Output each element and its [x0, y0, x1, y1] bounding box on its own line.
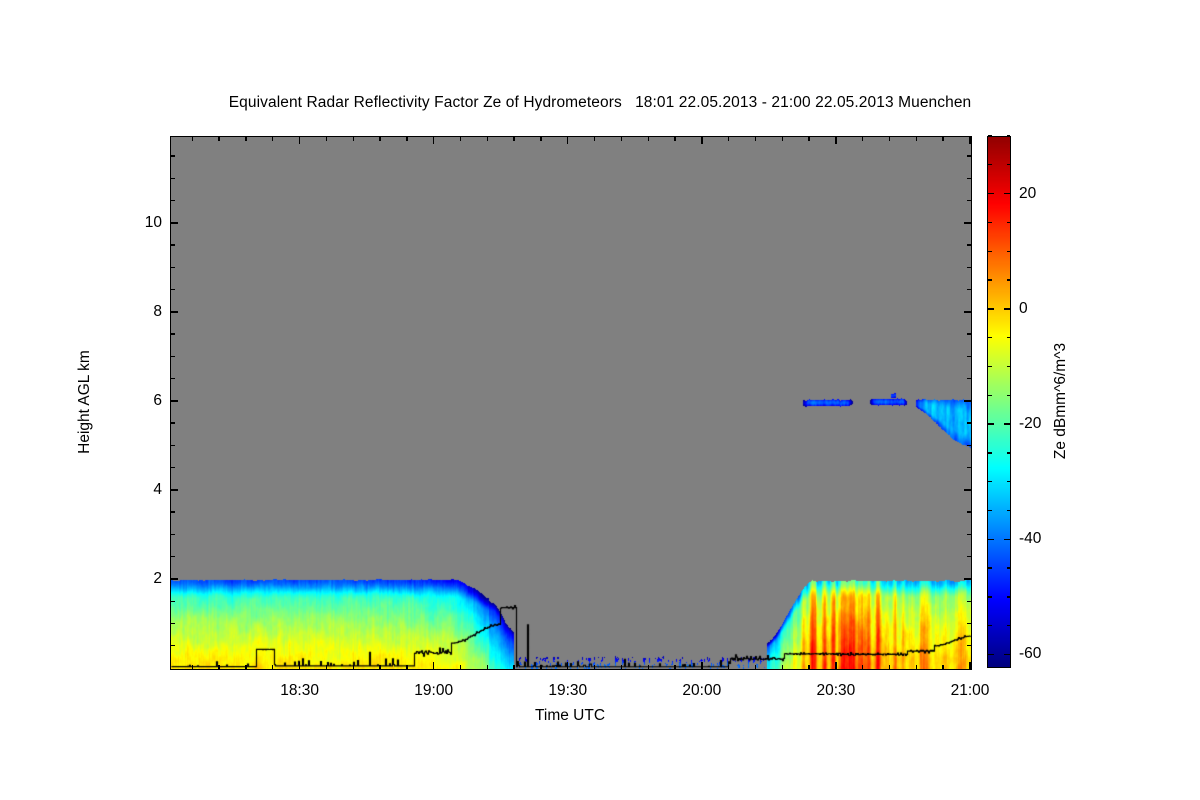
colorbar-tick-label: 0 [1019, 300, 1028, 318]
colorbar-tick-label: -60 [1019, 645, 1041, 663]
x-axis-tick-label: 20:30 [817, 682, 856, 700]
x-axis-tick-minor-top [889, 137, 890, 141]
y-axis-tick-major-right [964, 400, 971, 401]
colorbar-tick-minor [988, 337, 992, 338]
x-axis-tick-major-top [433, 137, 434, 144]
colorbar-tick-label: -20 [1019, 415, 1041, 433]
x-axis-tick-minor [487, 665, 488, 669]
colorbar-tick-minor-right [1007, 625, 1011, 626]
y-axis-tick-minor-right [967, 155, 971, 156]
x-axis-tick-minor [379, 665, 380, 669]
x-axis-tick-minor [916, 665, 917, 669]
y-axis-tick-major [171, 311, 178, 312]
x-axis-tick-minor-top [648, 137, 649, 141]
x-axis-tick-minor [353, 665, 354, 669]
x-axis-tick-minor-top [513, 137, 514, 141]
x-axis-tick-major [701, 662, 702, 669]
colorbar-tick-minor [988, 567, 992, 568]
x-axis-tick-major-top [299, 137, 300, 144]
y-axis-tick-minor-right [967, 623, 971, 624]
x-axis-tick-minor [540, 665, 541, 669]
radar-reflectivity-figure: Equivalent Radar Reflectivity Factor Ze … [0, 0, 1200, 800]
colorbar-tick-major [988, 308, 994, 309]
x-axis-tick-major [969, 662, 970, 669]
y-axis-tick-minor [171, 645, 175, 646]
x-axis-tick-minor [674, 665, 675, 669]
x-axis-tick-label: 18:30 [280, 682, 319, 700]
colorbar-tick-minor-right [1007, 481, 1011, 482]
x-axis-tick-major-top [701, 137, 702, 144]
y-axis-tick-minor [171, 422, 175, 423]
y-axis-tick-minor-right [967, 267, 971, 268]
y-axis-tick-major-right [964, 578, 971, 579]
y-axis-tick-label: 4 [153, 481, 162, 499]
colorbar-tick-major [988, 539, 994, 540]
colorbar-tick-major [988, 423, 994, 424]
x-axis-tick-minor [245, 665, 246, 669]
x-axis-tick-minor-top [942, 137, 943, 141]
x-axis-tick-minor-top [540, 137, 541, 141]
colorbar-tick-minor-right [1007, 567, 1011, 568]
x-axis-tick-minor-top [621, 137, 622, 141]
y-axis-tick-minor-right [967, 556, 971, 557]
colorbar-tick-minor [988, 251, 992, 252]
y-axis-tick-minor [171, 356, 175, 357]
colorbar [987, 136, 1011, 668]
y-axis-tick-minor-right [967, 244, 971, 245]
y-axis-title: Height AGL km [76, 292, 94, 512]
x-axis-tick-minor [621, 665, 622, 669]
colorbar-tick-minor [988, 164, 992, 165]
x-axis-tick-minor [460, 665, 461, 669]
x-axis-tick-minor-top [808, 137, 809, 141]
x-axis-tick-minor-top [782, 137, 783, 141]
colorbar-tick-minor [988, 279, 992, 280]
x-axis-tick-minor-top [674, 137, 675, 141]
y-axis-tick-minor [171, 623, 175, 624]
y-axis-tick-minor-right [967, 445, 971, 446]
x-axis-tick-minor [272, 665, 273, 669]
x-axis-tick-minor [648, 665, 649, 669]
y-axis-tick-major [171, 222, 178, 223]
colorbar-gradient [988, 137, 1010, 667]
x-axis-tick-minor-top [353, 137, 354, 141]
y-axis-tick-label: 8 [153, 303, 162, 321]
y-axis-tick-label: 6 [153, 392, 162, 410]
x-axis-tick-major [433, 662, 434, 669]
x-axis-title: Time UTC [170, 707, 970, 725]
x-axis-tick-minor-top [487, 137, 488, 141]
y-axis-tick-major [171, 578, 178, 579]
y-axis-tick-minor [171, 601, 175, 602]
y-axis-tick-minor [171, 155, 175, 156]
colorbar-tick-major-right [1004, 654, 1010, 655]
x-axis-tick-major-top [835, 137, 836, 144]
x-axis-tick-major-top [567, 137, 568, 144]
y-axis-tick-label: 2 [153, 570, 162, 588]
y-axis-tick-major [171, 489, 178, 490]
x-axis-tick-label: 19:30 [548, 682, 587, 700]
colorbar-tick-minor-right [1007, 135, 1011, 136]
x-axis-tick-minor-top [272, 137, 273, 141]
x-axis-tick-minor-top [406, 137, 407, 141]
x-axis-tick-minor [942, 665, 943, 669]
colorbar-tick-minor-right [1007, 510, 1011, 511]
y-axis-tick-minor-right [967, 645, 971, 646]
y-axis-tick-minor-right [967, 178, 971, 179]
colorbar-tick-major-right [1004, 308, 1010, 309]
colorbar-tick-label: -40 [1019, 530, 1041, 548]
y-axis-tick-minor-right [967, 378, 971, 379]
x-axis-tick-minor-top [218, 137, 219, 141]
colorbar-tick-minor-right [1007, 366, 1011, 367]
y-axis-tick-minor [171, 445, 175, 446]
colorbar-tick-minor [988, 366, 992, 367]
x-axis-tick-major [567, 662, 568, 669]
y-axis-tick-minor [171, 289, 175, 290]
colorbar-tick-major-right [1004, 193, 1010, 194]
colorbar-tick-minor [988, 222, 992, 223]
y-axis-tick-minor-right [967, 534, 971, 535]
y-axis-tick-major [171, 400, 178, 401]
x-axis-tick-label: 19:00 [414, 682, 453, 700]
colorbar-tick-minor [988, 481, 992, 482]
y-axis-tick-major-right [964, 222, 971, 223]
y-axis-tick-minor-right [967, 422, 971, 423]
y-axis-tick-minor [171, 511, 175, 512]
colorbar-tick-minor [988, 625, 992, 626]
x-axis-tick-minor [728, 665, 729, 669]
x-axis-tick-major [299, 662, 300, 669]
y-axis-tick-minor [171, 378, 175, 379]
x-axis-tick-minor-top [594, 137, 595, 141]
x-axis-tick-minor [889, 665, 890, 669]
plot-area [170, 136, 972, 670]
colorbar-tick-minor [988, 596, 992, 597]
y-axis-tick-minor [171, 178, 175, 179]
y-axis-tick-minor [171, 333, 175, 334]
colorbar-tick-major-right [1004, 539, 1010, 540]
x-axis-tick-minor [326, 665, 327, 669]
colorbar-tick-minor-right [1007, 337, 1011, 338]
colorbar-tick-minor [988, 510, 992, 511]
x-axis-tick-minor [406, 665, 407, 669]
x-axis-tick-minor-top [192, 137, 193, 141]
y-axis-tick-minor [171, 200, 175, 201]
x-axis-tick-minor-top [728, 137, 729, 141]
x-axis-tick-minor-top [755, 137, 756, 141]
x-axis-tick-minor [782, 665, 783, 669]
x-axis-tick-minor-top [916, 137, 917, 141]
x-axis-tick-major-top [969, 137, 970, 144]
y-axis-tick-minor [171, 467, 175, 468]
x-axis-tick-minor-top [862, 137, 863, 141]
y-axis-tick-minor-right [967, 356, 971, 357]
x-axis-tick-minor-top [245, 137, 246, 141]
colorbar-tick-minor-right [1007, 251, 1011, 252]
y-axis-tick-minor-right [967, 511, 971, 512]
x-axis-tick-minor-top [460, 137, 461, 141]
x-axis-tick-minor [218, 665, 219, 669]
colorbar-tick-minor-right [1007, 164, 1011, 165]
x-axis-tick-label: 20:00 [682, 682, 721, 700]
y-axis-tick-minor [171, 556, 175, 557]
x-axis-tick-minor [755, 665, 756, 669]
x-axis-tick-major [835, 662, 836, 669]
y-axis-tick-major-right [964, 489, 971, 490]
x-axis-tick-minor-top [379, 137, 380, 141]
colorbar-tick-minor [988, 452, 992, 453]
figure-title: Equivalent Radar Reflectivity Factor Ze … [0, 94, 1200, 112]
colorbar-tick-minor-right [1007, 395, 1011, 396]
y-axis-tick-minor-right [967, 333, 971, 334]
reflectivity-heatmap-canvas [171, 137, 971, 669]
y-axis-tick-minor-right [967, 467, 971, 468]
y-axis-tick-minor [171, 534, 175, 535]
colorbar-tick-major [988, 193, 994, 194]
x-axis-tick-minor-top [326, 137, 327, 141]
colorbar-title: Ze dBmm^6/m^3 [1052, 343, 1070, 459]
x-axis-tick-minor [808, 665, 809, 669]
colorbar-tick-label: 20 [1019, 185, 1036, 203]
y-axis-tick-minor [171, 267, 175, 268]
y-axis-tick-minor-right [967, 200, 971, 201]
x-axis-tick-minor [594, 665, 595, 669]
y-axis-tick-minor-right [967, 601, 971, 602]
colorbar-tick-minor [988, 135, 992, 136]
y-axis-tick-minor [171, 244, 175, 245]
y-axis-tick-major-right [964, 311, 971, 312]
y-axis-tick-label: 10 [145, 214, 162, 232]
colorbar-tick-minor-right [1007, 222, 1011, 223]
x-axis-tick-label: 21:00 [951, 682, 990, 700]
x-axis-tick-minor [862, 665, 863, 669]
colorbar-tick-minor [988, 395, 992, 396]
colorbar-tick-minor-right [1007, 279, 1011, 280]
colorbar-tick-minor-right [1007, 596, 1011, 597]
x-axis-tick-minor [192, 665, 193, 669]
colorbar-tick-minor-right [1007, 452, 1011, 453]
colorbar-tick-major-right [1004, 423, 1010, 424]
x-axis-tick-minor [513, 665, 514, 669]
y-axis-tick-minor-right [967, 289, 971, 290]
colorbar-tick-major [988, 654, 994, 655]
